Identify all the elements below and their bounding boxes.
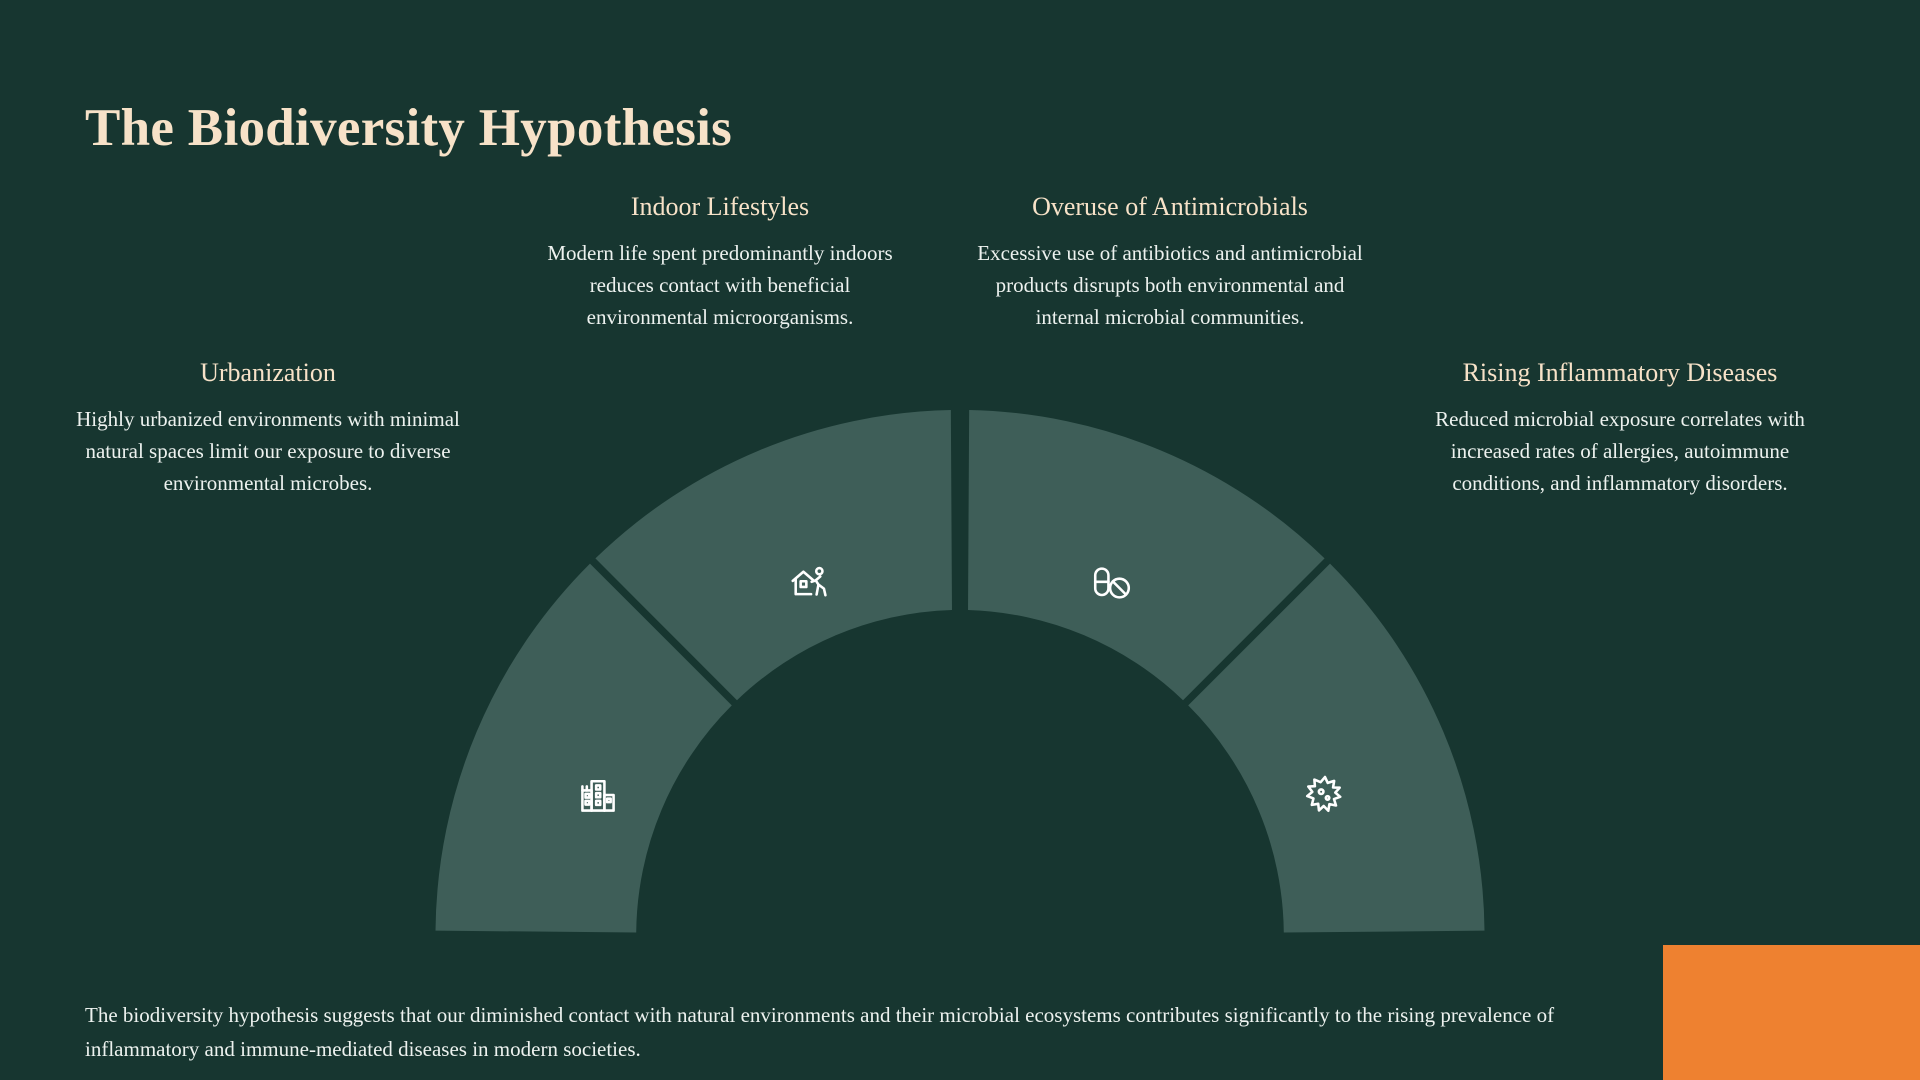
conclusion-text: The biodiversity hypothesis suggests tha… bbox=[85, 998, 1585, 1066]
pills-icon bbox=[1089, 562, 1133, 606]
node-label-rising-inflammatory-diseases: Rising Inflammatory Diseases Reduced mic… bbox=[1420, 356, 1820, 500]
biodiversity-wheel-diagram bbox=[0, 0, 1920, 1080]
node-description-urbanization: Highly urbanized environments with minim… bbox=[58, 404, 478, 500]
orange-accent-block bbox=[1663, 945, 1920, 1080]
node-description-indoor-lifestyles: Modern life spent predominantly indoors … bbox=[530, 238, 910, 334]
node-title-urbanization: Urbanization bbox=[58, 356, 478, 390]
node-title-overuse-of-antimicrobials: Overuse of Antimicrobials bbox=[975, 190, 1365, 224]
city-buildings-icon bbox=[576, 773, 620, 817]
house-person-icon bbox=[788, 560, 832, 604]
wheel-segments-svg bbox=[0, 0, 1920, 1080]
node-label-indoor-lifestyles: Indoor Lifestyles Modern life spent pred… bbox=[530, 190, 910, 334]
node-description-overuse-of-antimicrobials: Excessive use of antibiotics and antimic… bbox=[975, 238, 1365, 334]
node-label-urbanization: Urbanization Highly urbanized environmen… bbox=[58, 356, 478, 500]
node-title-indoor-lifestyles: Indoor Lifestyles bbox=[530, 190, 910, 224]
node-label-overuse-of-antimicrobials: Overuse of Antimicrobials Excessive use … bbox=[975, 190, 1365, 334]
microbe-icon bbox=[1303, 773, 1347, 817]
node-description-rising-inflammatory-diseases: Reduced microbial exposure correlates wi… bbox=[1420, 404, 1820, 500]
node-title-rising-inflammatory-diseases: Rising Inflammatory Diseases bbox=[1420, 356, 1820, 390]
